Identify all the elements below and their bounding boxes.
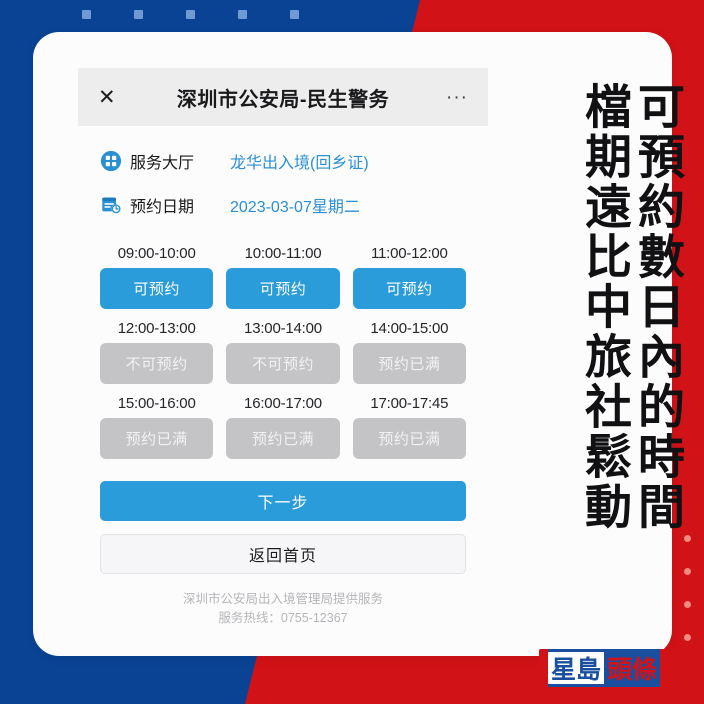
vertical-headline: 可預約數日內的時間 檔期遠比中旅社鬆動 xyxy=(530,82,680,552)
time-slot: 10:00-11:00 可预约 xyxy=(226,240,339,309)
app-header-bar: ✕ 深圳市公安局-民生警务 ··· xyxy=(78,68,488,126)
info-label: 预约日期 xyxy=(130,193,230,217)
decorative-square xyxy=(238,10,247,19)
time-slot: 12:00-13:00 不可预约 xyxy=(100,315,213,384)
slot-time-label: 10:00-11:00 xyxy=(226,240,339,268)
time-slot: 16:00-17:00 预约已满 xyxy=(226,390,339,459)
calendar-clock-icon xyxy=(100,194,122,216)
slot-status-button: 预约已满 xyxy=(353,418,466,459)
info-value-service-hall[interactable]: 龙华出入境(回乡证) xyxy=(230,149,369,173)
slot-status-button: 预约已满 xyxy=(353,343,466,384)
slot-status-button: 预约已满 xyxy=(226,418,339,459)
more-options-icon[interactable]: ··· xyxy=(442,88,468,107)
slot-status-button[interactable]: 可预约 xyxy=(353,268,466,309)
slot-time-label: 14:00-15:00 xyxy=(353,315,466,343)
app-title: 深圳市公安局-民生警务 xyxy=(124,83,442,112)
logo-right-bracket xyxy=(660,649,669,687)
time-slot: 11:00-12:00 可预约 xyxy=(353,240,466,309)
slot-time-label: 11:00-12:00 xyxy=(353,240,466,268)
decorative-square xyxy=(290,10,299,19)
slot-status-button: 不可预约 xyxy=(226,343,339,384)
time-slot: 17:00-17:45 预约已满 xyxy=(353,390,466,459)
phone-screenshot-panel: ✕ 深圳市公安局-民生警务 ··· 服务大厅 龙华出入境(回乡证) xyxy=(78,68,488,629)
footer-note: 深圳市公安局出入境管理局提供服务 服务热线：0755-12367 xyxy=(100,574,466,629)
slot-status-button[interactable]: 可预约 xyxy=(100,268,213,309)
next-step-button[interactable]: 下一步 xyxy=(100,481,466,521)
slot-time-label: 16:00-17:00 xyxy=(226,390,339,418)
slot-time-label: 17:00-17:45 xyxy=(353,390,466,418)
appointment-info-section: 服务大厅 龙华出入境(回乡证) 预约日期 2023-03-07星期二 xyxy=(78,126,488,236)
decorative-square xyxy=(186,10,195,19)
action-button-group: 下一步 返回首页 深圳市公安局出入境管理局提供服务 服务热线：0755-1236… xyxy=(78,459,488,629)
headline-column-right: 可預約數日內的時間 xyxy=(633,82,680,552)
decorative-square xyxy=(134,10,143,19)
decorative-dot xyxy=(684,535,691,542)
time-slot: 09:00-10:00 可预约 xyxy=(100,240,213,309)
time-slot: 14:00-15:00 预约已满 xyxy=(353,315,466,384)
decorative-square xyxy=(82,10,91,19)
slot-status-button: 不可预约 xyxy=(100,343,213,384)
footer-provider-line: 深圳市公安局出入境管理局提供服务 xyxy=(100,590,466,609)
decorative-dot xyxy=(684,601,691,608)
logo-text-singtao: 星島 xyxy=(548,649,604,687)
slot-time-label: 09:00-10:00 xyxy=(100,240,213,268)
close-icon[interactable]: ✕ xyxy=(98,87,124,108)
screenshot-canvas: ✕ 深圳市公安局-民生警务 ··· 服务大厅 龙华出入境(回乡证) xyxy=(0,0,704,704)
slot-time-label: 13:00-14:00 xyxy=(226,315,339,343)
info-row-service-hall: 服务大厅 龙华出入境(回乡证) xyxy=(100,144,466,178)
decorative-dot xyxy=(684,568,691,575)
time-slot: 15:00-16:00 预约已满 xyxy=(100,390,213,459)
footer-hotline-line: 服务热线：0755-12367 xyxy=(100,609,466,628)
logo-left-bracket xyxy=(539,649,548,687)
time-slot: 13:00-14:00 不可预约 xyxy=(226,315,339,384)
slot-status-button[interactable]: 可预约 xyxy=(226,268,339,309)
slot-status-button: 预约已满 xyxy=(100,418,213,459)
decorative-square-dots-top xyxy=(82,10,299,19)
slot-time-label: 15:00-16:00 xyxy=(100,390,213,418)
content-card: ✕ 深圳市公安局-民生警务 ··· 服务大厅 龙华出入境(回乡证) xyxy=(33,32,672,656)
info-label: 服务大厅 xyxy=(130,149,230,173)
service-hall-icon xyxy=(100,150,122,172)
info-value-appointment-date[interactable]: 2023-03-07星期二 xyxy=(230,193,360,217)
info-row-appointment-date: 预约日期 2023-03-07星期二 xyxy=(100,188,466,222)
logo-text-headline: 頭條 xyxy=(604,649,660,687)
return-home-button[interactable]: 返回首页 xyxy=(100,534,466,574)
brand-logo: 星島 頭條 xyxy=(539,649,669,687)
time-slot-grid: 09:00-10:00 可预约 10:00-11:00 可预约 11:00-12… xyxy=(78,236,488,459)
headline-column-left: 檔期遠比中旅社鬆動 xyxy=(580,82,627,552)
slot-time-label: 12:00-13:00 xyxy=(100,315,213,343)
decorative-round-dots-right xyxy=(684,535,691,641)
decorative-dot xyxy=(684,634,691,641)
